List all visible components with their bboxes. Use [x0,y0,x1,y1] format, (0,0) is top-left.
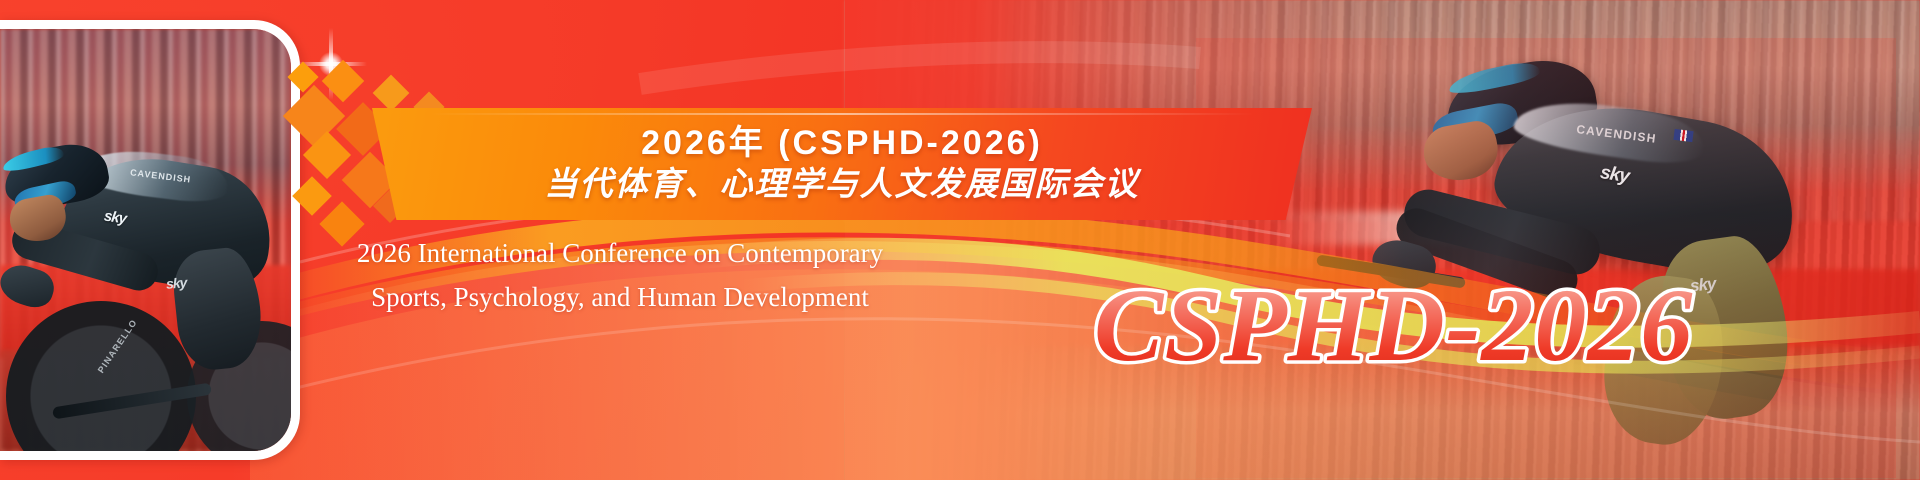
jersey-brand-label-secondary: sky [165,274,186,291]
svg-text:CSPHD-2026: CSPHD-2026 [1094,268,1693,383]
mosaic-tile [373,75,410,112]
title-plaque-text: 2026年 (CSPHD-2026) 当代体育、心理学与人文发展国际会议 [372,108,1312,220]
title-chinese-line1: 2026年 (CSPHD-2026) [641,125,1043,162]
title-english-line2: Sports, Psychology, and Human Developmen… [300,276,940,320]
right-photo-fade [845,0,1920,480]
mosaic-tile [322,60,364,102]
title-english: 2026 International Conference on Contemp… [300,232,940,319]
conference-banner: CAVENDISH sky sky [0,0,1920,480]
cyclist-photo: CAVENDISH sky sky PINARELLO [0,29,291,451]
title-english-line1: 2026 International Conference on Contemp… [300,232,940,276]
cyclist-photo-card: CAVENDISH sky sky PINARELLO [0,20,300,460]
mosaic-tile [292,176,332,216]
title-plaque: 2026年 (CSPHD-2026) 当代体育、心理学与人文发展国际会议 [372,108,1312,220]
logotype-csphd-2026: CSPHD-2026 [1090,268,1900,388]
jersey-brand-label: sky [103,208,127,228]
title-chinese-line2: 当代体育、心理学与人文发展国际会议 [545,165,1140,203]
